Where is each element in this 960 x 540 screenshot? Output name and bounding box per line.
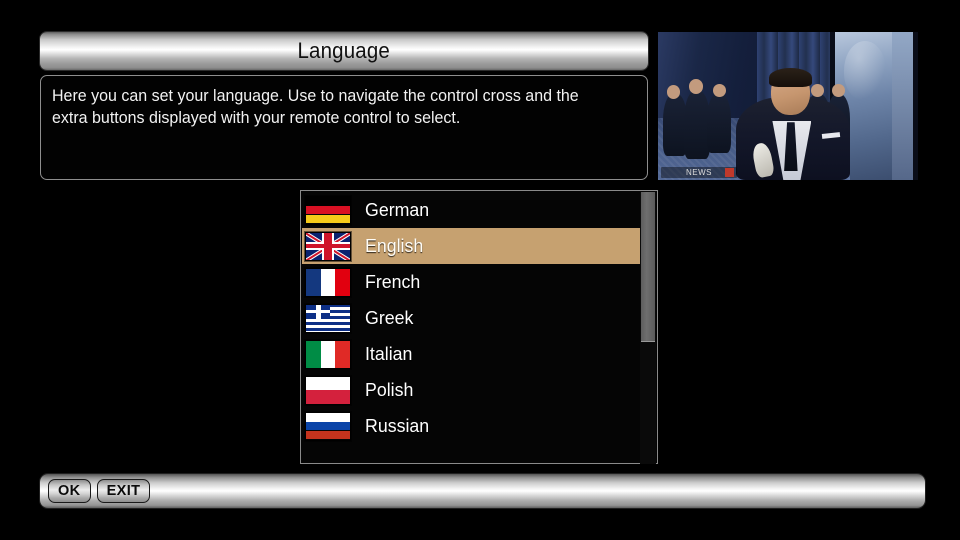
video-column-far-right [892, 32, 913, 180]
video-preview[interactable]: NEWS [658, 32, 918, 180]
list-item-french[interactable]: French [302, 264, 642, 300]
video-anchor-hair [769, 68, 812, 87]
language-list[interactable]: German English French Greek Italian [302, 192, 642, 444]
video-logo-accent [725, 168, 734, 177]
list-item-german[interactable]: German [302, 192, 642, 228]
french-flag-icon [305, 268, 351, 297]
video-crowd-figure [707, 94, 730, 153]
page-title: Language [298, 38, 391, 64]
list-item-label: Russian [365, 415, 429, 437]
list-item-label: English [365, 235, 423, 257]
video-crowd-figure [684, 91, 710, 159]
list-item-russian[interactable]: Russian [302, 408, 642, 444]
video-crowd-head [713, 84, 726, 97]
exit-button[interactable]: EXIT [97, 479, 151, 503]
list-item-label: Italian [365, 343, 412, 365]
description-panel: Here you can set your language. Use to n… [40, 75, 648, 180]
bottom-button-bar: OK EXIT [40, 474, 925, 508]
german-flag-icon [305, 196, 351, 225]
title-bar: Language [40, 32, 648, 70]
list-item-polish[interactable]: Polish [302, 372, 642, 408]
list-item-greek[interactable]: Greek [302, 300, 642, 336]
scrollbar-track[interactable] [640, 192, 656, 464]
video-crowd-head [667, 85, 680, 98]
list-item-label: French [365, 271, 420, 293]
scrollbar-thumb[interactable] [641, 192, 655, 342]
polish-flag-icon [305, 376, 351, 405]
list-item-italian[interactable]: Italian [302, 336, 642, 372]
description-text: Here you can set your language. Use to n… [52, 86, 618, 130]
list-item-english[interactable]: English [302, 228, 642, 264]
greek-flag-icon [305, 304, 351, 333]
video-channel-logo: NEWS [661, 167, 737, 178]
ok-button[interactable]: OK [48, 479, 91, 503]
list-item-label: Greek [365, 307, 413, 329]
italian-flag-icon [305, 340, 351, 369]
list-item-label: Polish [365, 379, 413, 401]
english-flag-icon [305, 232, 351, 261]
list-item-label: German [365, 199, 429, 221]
language-list-panel[interactable]: German English French Greek Italian [300, 190, 658, 464]
russian-flag-icon [305, 412, 351, 441]
